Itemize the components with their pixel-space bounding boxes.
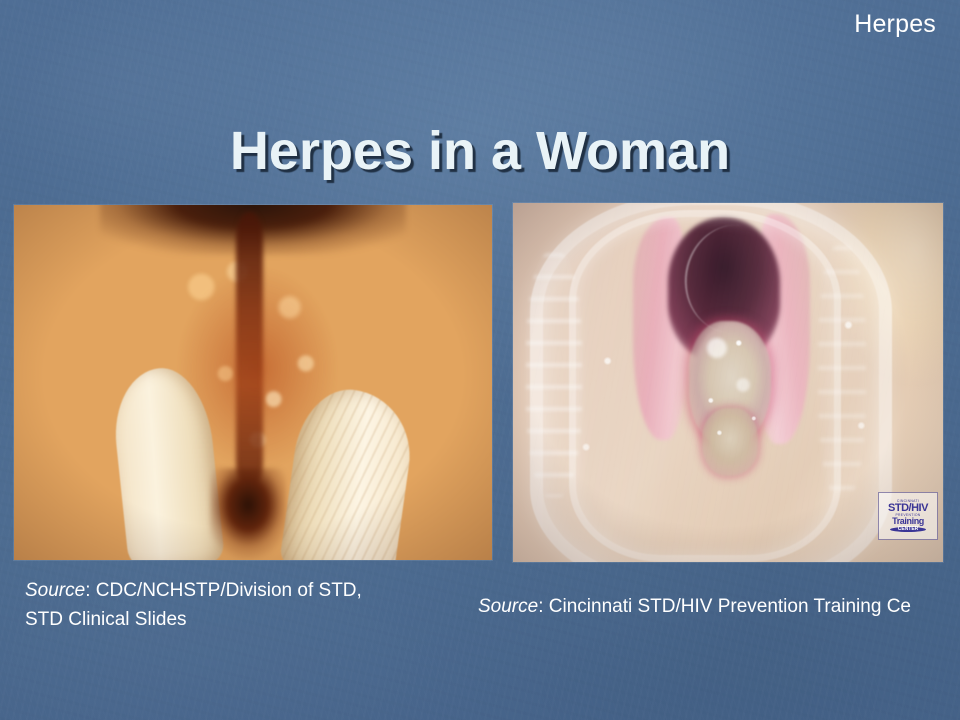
right-speculum-photo: CINCINNATI STD/HIV PREVENTION Training C… <box>513 203 943 562</box>
slide-canvas: Herpes Herpes in a Woman <box>0 0 960 720</box>
right-caption-separator: : <box>538 596 549 617</box>
right-caption-line-1: Source: Cincinnati STD/HIV Prevention Tr… <box>478 592 911 621</box>
slide-header-tag: Herpes <box>854 12 936 37</box>
training-center-watermark-logo: CINCINNATI STD/HIV PREVENTION Training C… <box>878 492 938 540</box>
left-caption-line-1: Source: CDC/NCHSTP/Division of STD, <box>25 576 362 605</box>
left-photo-artwork <box>14 205 492 560</box>
left-photo-source-caption: Source: CDC/NCHSTP/Division of STD, STD … <box>25 576 362 634</box>
left-photo-vignette <box>14 205 492 560</box>
page-title: Herpes in a Woman <box>0 122 960 180</box>
right-caption-source-label: Source <box>478 596 538 617</box>
right-photo-source-caption: Source: Cincinnati STD/HIV Prevention Tr… <box>478 592 911 621</box>
left-caption-line-2: STD Clinical Slides <box>25 605 362 634</box>
right-caption-text-1: Cincinnati STD/HIV Prevention Training C… <box>549 596 911 617</box>
left-clinical-photo <box>14 205 492 560</box>
watermark-line-training: Training <box>892 517 924 526</box>
left-caption-separator: : <box>85 580 96 601</box>
left-caption-text-1: CDC/NCHSTP/Division of STD, <box>96 580 362 601</box>
left-caption-source-label: Source <box>25 580 85 601</box>
watermark-line-center: CENTER <box>890 527 927 532</box>
right-photo-artwork: CINCINNATI STD/HIV PREVENTION Training C… <box>513 203 943 562</box>
